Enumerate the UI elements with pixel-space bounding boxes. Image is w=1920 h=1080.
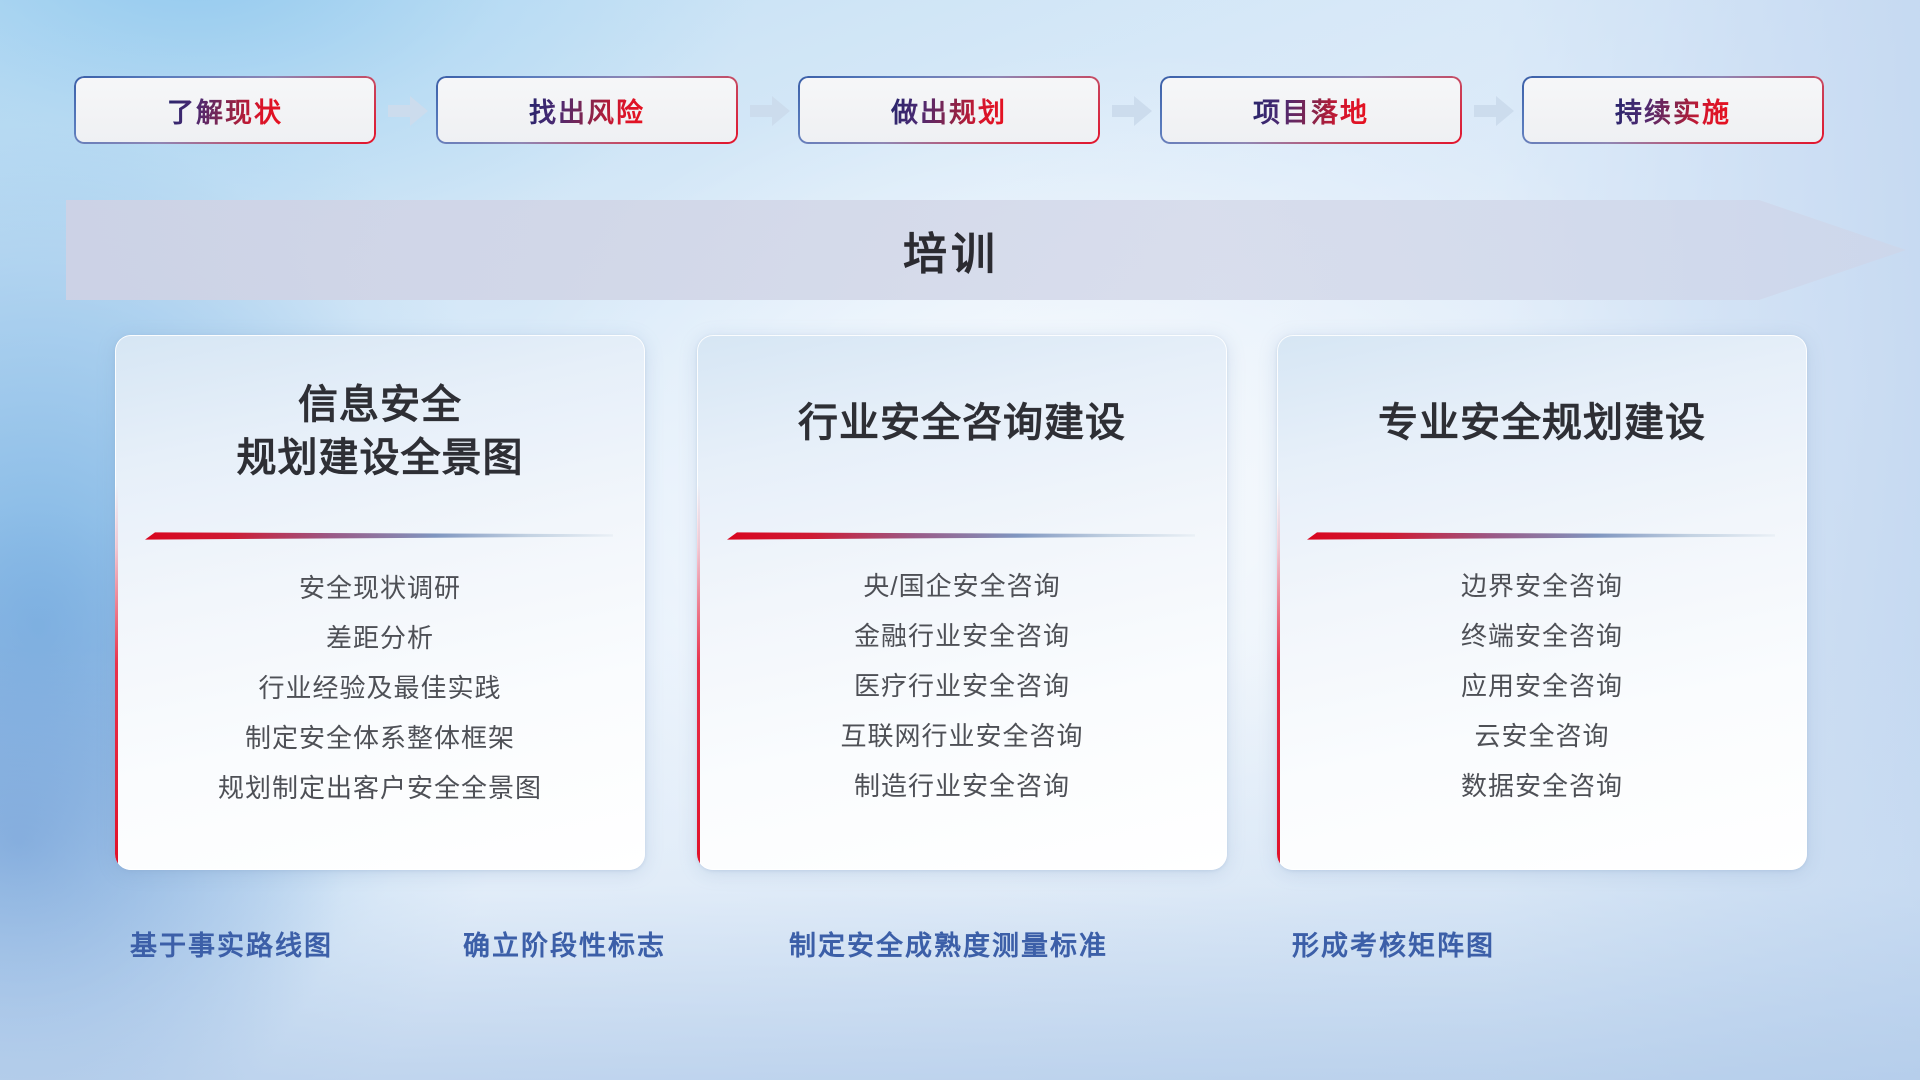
list-item: 终端安全咨询 bbox=[1277, 611, 1807, 661]
card-industry-security-consulting[interactable]: 行业安全咨询建设 央/国企安全咨询 金融行业安全咨询 bbox=[697, 335, 1227, 870]
list-item: 互联网行业安全咨询 bbox=[697, 711, 1227, 761]
outcome-label: 基于事实路线图 bbox=[130, 915, 333, 971]
step-chip-label: 项目落地 bbox=[1253, 91, 1369, 130]
step-chip-label: 找出风险 bbox=[529, 91, 645, 130]
card-accent-line bbox=[115, 485, 118, 870]
list-item: 制造行业安全咨询 bbox=[697, 761, 1227, 811]
card-row: 信息安全 规划建设全景图 安全现状调研 差距分析 行 bbox=[0, 335, 1920, 870]
training-banner: 培训 bbox=[66, 200, 1906, 300]
step-chip-2[interactable]: 做出规划 bbox=[798, 76, 1100, 144]
outcome-label: 确立阶段性标志 bbox=[463, 915, 666, 971]
card-item-list: 央/国企安全咨询 金融行业安全咨询 医疗行业安全咨询 互联网行业安全咨询 制造行… bbox=[697, 561, 1227, 811]
card-title: 行业安全咨询建设 bbox=[697, 397, 1227, 450]
step-chip-label: 了解现状 bbox=[167, 91, 283, 130]
list-item: 安全现状调研 bbox=[115, 563, 645, 613]
chevron-right-arrow-icon bbox=[376, 90, 436, 130]
step-chip-3[interactable]: 项目落地 bbox=[1160, 76, 1462, 144]
list-item: 医疗行业安全咨询 bbox=[697, 661, 1227, 711]
outcome-label-row: 基于事实路线图 确立阶段性标志 制定安全成熟度测量标准 形成考核矩阵图 bbox=[0, 915, 1920, 971]
card-item-list: 边界安全咨询 终端安全咨询 应用安全咨询 云安全咨询 数据安全咨询 bbox=[1277, 561, 1807, 811]
card-accent-line bbox=[1277, 485, 1280, 870]
list-item: 央/国企安全咨询 bbox=[697, 561, 1227, 611]
card-info-security-blueprint[interactable]: 信息安全 规划建设全景图 安全现状调研 差距分析 行 bbox=[115, 335, 645, 870]
list-item: 数据安全咨询 bbox=[1277, 761, 1807, 811]
step-chip-label: 持续实施 bbox=[1615, 91, 1731, 130]
outcome-label: 制定安全成熟度测量标准 bbox=[789, 915, 1108, 971]
list-item: 应用安全咨询 bbox=[1277, 661, 1807, 711]
step-chip-4[interactable]: 持续实施 bbox=[1522, 76, 1824, 144]
card-title: 专业安全规划建设 bbox=[1277, 397, 1807, 450]
list-item: 行业经验及最佳实践 bbox=[115, 663, 645, 713]
outcome-label: 形成考核矩阵图 bbox=[1292, 915, 1495, 971]
training-banner-label: 培训 bbox=[66, 200, 1836, 300]
process-step-row: 了解现状 找出风险 做出规划 项目落地 持续实施 bbox=[0, 75, 1920, 145]
card-divider bbox=[145, 531, 613, 540]
card-title: 信息安全 规划建设全景图 bbox=[115, 379, 645, 485]
card-divider bbox=[727, 531, 1195, 540]
step-chip-label: 做出规划 bbox=[891, 91, 1007, 130]
chevron-right-arrow-icon bbox=[738, 90, 798, 130]
chevron-right-arrow-icon bbox=[1100, 90, 1160, 130]
card-accent-line bbox=[697, 485, 700, 870]
list-item: 边界安全咨询 bbox=[1277, 561, 1807, 611]
card-professional-security-planning[interactable]: 专业安全规划建设 边界安全咨询 终端安全咨询 应用安 bbox=[1277, 335, 1807, 870]
list-item: 金融行业安全咨询 bbox=[697, 611, 1227, 661]
card-item-list: 安全现状调研 差距分析 行业经验及最佳实践 制定安全体系整体框架 规划制定出客户… bbox=[115, 563, 645, 813]
list-item: 制定安全体系整体框架 bbox=[115, 713, 645, 763]
card-divider bbox=[1307, 531, 1775, 540]
step-chip-1[interactable]: 找出风险 bbox=[436, 76, 738, 144]
list-item: 云安全咨询 bbox=[1277, 711, 1807, 761]
list-item: 差距分析 bbox=[115, 613, 645, 663]
chevron-right-arrow-icon bbox=[1462, 90, 1522, 130]
list-item: 规划制定出客户安全全景图 bbox=[115, 763, 645, 813]
step-chip-0[interactable]: 了解现状 bbox=[74, 76, 376, 144]
